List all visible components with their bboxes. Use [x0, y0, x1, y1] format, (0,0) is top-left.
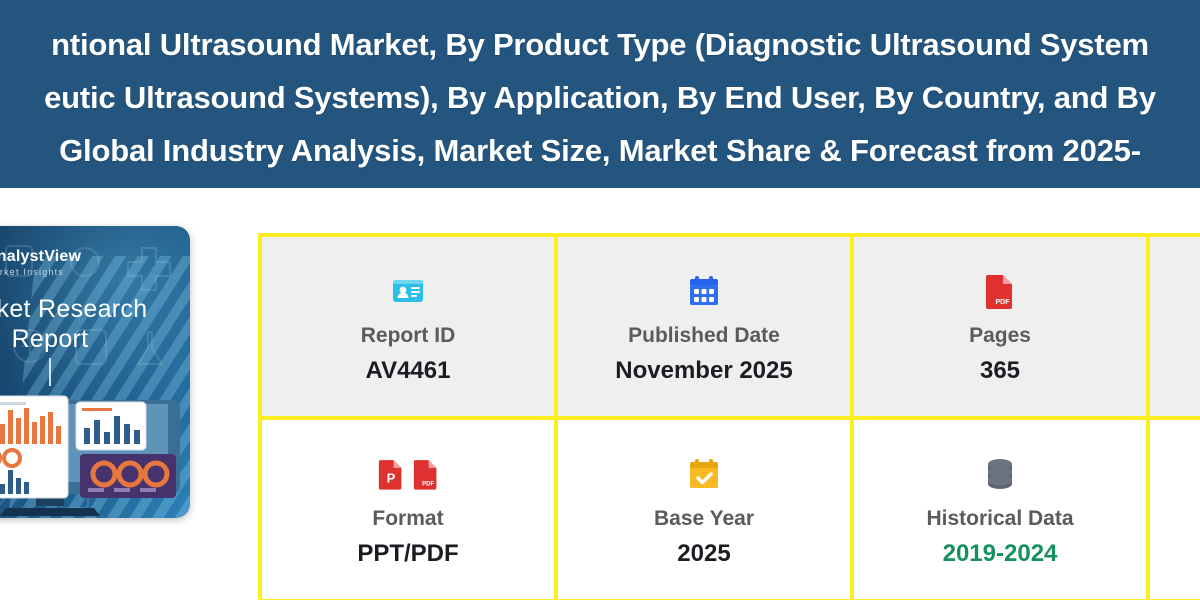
page-title-line-2: eutic Ultrasound Systems), By Applicatio…: [44, 71, 1156, 124]
id-card-icon: [391, 271, 425, 311]
report-page: ntional Ultrasound Market, By Product Ty…: [0, 0, 1200, 600]
logo-name: AnalystView: [0, 249, 81, 265]
calendar-check-icon: [688, 454, 720, 494]
metadata-value: November 2025: [615, 356, 792, 386]
metadata-value: PPT/PDF: [357, 539, 458, 569]
pdf-file-icon: PDF: [985, 271, 1015, 311]
analystview-logo: AnalystView Market Insights: [0, 246, 81, 280]
svg-text:PDF: PDF: [996, 299, 1011, 306]
dashboard-illustration: [0, 358, 190, 518]
metadata-label: Pages: [969, 323, 1031, 349]
metadata-label: Report ID: [361, 323, 456, 349]
metadata-row: P PDF Format PPT/PDF: [262, 420, 1200, 600]
metadata-cell-delivery-time: Delivery Time 24 Hours: [1150, 420, 1200, 600]
svg-text:PDF: PDF: [422, 481, 434, 487]
thumbnail-heading: Market Research Report: [0, 294, 190, 354]
metadata-cell-base-year: Base Year 2025: [558, 420, 854, 600]
thumbnail-heading-line-1: Market Research: [0, 294, 190, 324]
metadata-value: 2025: [677, 539, 730, 569]
metadata-label: Historical Data: [926, 506, 1073, 532]
metadata-cell-format: P PDF Format PPT/PDF: [262, 420, 558, 600]
pdf-file-icon: PDF: [413, 457, 439, 491]
metadata-label: Published Date: [628, 323, 780, 349]
metadata-value: 2019-2024: [943, 539, 1058, 569]
logo-tagline: Market Insights: [0, 268, 81, 277]
ppt-file-icon: P: [378, 457, 404, 491]
metadata-row: Report ID AV4461: [262, 237, 1200, 420]
metadata-value: 365: [980, 356, 1020, 386]
page-title-line-3: Global Industry Analysis, Market Size, M…: [59, 124, 1141, 177]
metadata-cell-industry: Industry Healthcare: [1150, 237, 1200, 420]
database-icon: [984, 454, 1016, 494]
page-title-line-1: ntional Ultrasound Market, By Product Ty…: [51, 18, 1149, 71]
metadata-label: Base Year: [654, 506, 754, 532]
metadata-cell-historical-data: Historical Data 2019-2024: [854, 420, 1150, 600]
report-content: AnalystView Market Insights Market Resea…: [0, 188, 1200, 600]
page-header-banner: ntional Ultrasound Market, By Product Ty…: [0, 0, 1200, 188]
ppt-pdf-files-icon: P PDF: [378, 454, 439, 494]
svg-text:P: P: [386, 471, 395, 486]
calendar-icon: [688, 271, 720, 311]
report-cover-thumbnail[interactable]: AnalystView Market Insights Market Resea…: [0, 226, 190, 518]
metadata-cell-pages: PDF Pages 365: [854, 237, 1150, 420]
metadata-value: AV4461: [366, 356, 451, 386]
report-metadata-grid: Report ID AV4461: [258, 233, 1200, 600]
thumbnail-heading-line-2: Report: [0, 324, 190, 354]
metadata-cell-published-date: Published Date November 2025: [558, 237, 854, 420]
metadata-label: Format: [372, 506, 443, 532]
metadata-cell-report-id: Report ID AV4461: [262, 237, 558, 420]
